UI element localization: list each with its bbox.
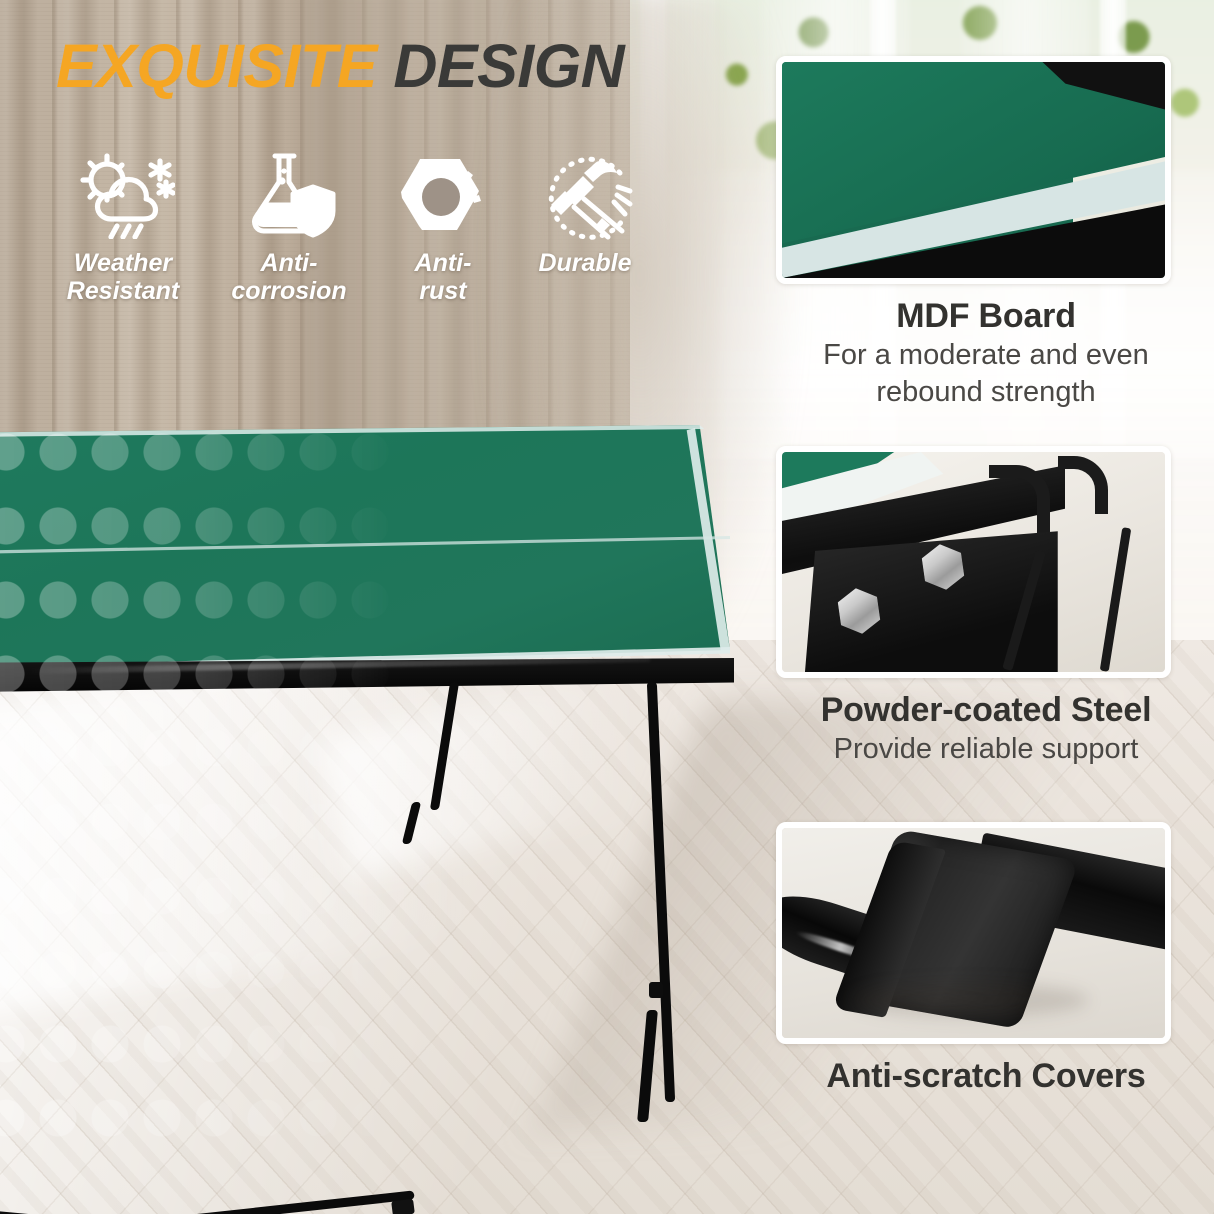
anti-scratch-foot-cap bbox=[391, 1199, 415, 1214]
feature-label-line1: Durable bbox=[526, 249, 644, 277]
feature-label-line2: corrosion bbox=[218, 277, 360, 305]
powder-coated-steel-caption: Powder-coated Steel Provide reliable sup… bbox=[776, 690, 1196, 767]
weather-icon bbox=[52, 143, 194, 249]
mdf-board-photo-card bbox=[776, 56, 1171, 284]
product-feature-poster: EXQUISITE DESIGN Weather Resistant bbox=[0, 0, 1214, 1214]
headline-primary: EXQUISITE bbox=[56, 32, 377, 100]
headline-secondary: DESIGN bbox=[393, 32, 624, 100]
feature-label-line1: Anti- bbox=[218, 249, 360, 277]
mdf-board-photo bbox=[782, 62, 1165, 278]
flask-shield-icon bbox=[218, 143, 360, 249]
anti-scratch-cover-photo-card bbox=[776, 822, 1171, 1044]
leg-hinge-joint bbox=[649, 982, 663, 998]
anti-scratch-cover-photo bbox=[782, 828, 1165, 1038]
anti-scratch-cover-caption: Anti-scratch Covers bbox=[776, 1056, 1196, 1096]
table-tennis-table bbox=[0, 410, 760, 1170]
feature-durable: Durable bbox=[526, 143, 644, 277]
page-title: EXQUISITE DESIGN bbox=[56, 36, 624, 97]
table-leg-rear bbox=[430, 682, 459, 810]
hammer-durable-icon bbox=[526, 143, 644, 249]
feature-label: Weather Resistant bbox=[52, 249, 194, 305]
callout-title: Anti-scratch Covers bbox=[776, 1056, 1196, 1096]
callout-subtitle-line1: For a moderate and even bbox=[776, 338, 1196, 373]
feature-label-line2: Resistant bbox=[52, 277, 194, 305]
feature-label-line2: rust bbox=[384, 277, 502, 305]
feature-badges-row: Weather Resistant Anti- corrosion bbox=[52, 143, 644, 305]
photo-shadow bbox=[851, 983, 1088, 1017]
table-leg-front-lower bbox=[637, 1010, 658, 1122]
feature-label-line1: Weather bbox=[52, 249, 194, 277]
feature-label: Durable bbox=[526, 249, 644, 277]
photo-steel-hook bbox=[989, 465, 1050, 544]
feature-anti-corrosion: Anti- corrosion bbox=[218, 143, 360, 305]
feature-label: Anti- rust bbox=[384, 249, 502, 305]
hex-nut-icon bbox=[384, 143, 502, 249]
feature-label-line1: Anti- bbox=[384, 249, 502, 277]
powder-coated-steel-photo-card bbox=[776, 446, 1171, 678]
mdf-board-caption: MDF Board For a moderate and even reboun… bbox=[776, 296, 1196, 410]
table-leg-rear-lower bbox=[402, 802, 421, 844]
callout-subtitle-line1: Provide reliable support bbox=[776, 732, 1196, 767]
callout-subtitle-line2: rebound strength bbox=[776, 375, 1196, 410]
feature-anti-rust: Anti- rust bbox=[384, 143, 502, 305]
feature-label: Anti- corrosion bbox=[218, 249, 360, 305]
callout-title: MDF Board bbox=[776, 296, 1196, 336]
detail-callouts-rail: MDF Board For a moderate and even reboun… bbox=[776, 0, 1196, 1214]
callout-title: Powder-coated Steel bbox=[776, 690, 1196, 730]
powder-coated-steel-photo bbox=[782, 452, 1165, 672]
feature-weather-resistant: Weather Resistant bbox=[52, 143, 194, 305]
